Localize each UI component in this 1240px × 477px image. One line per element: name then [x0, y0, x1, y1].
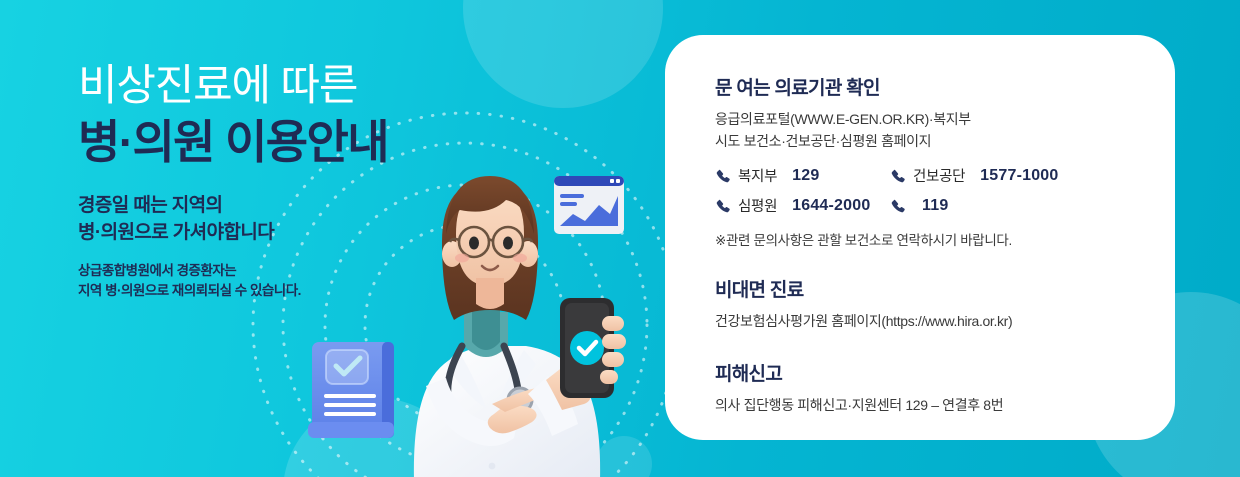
phone-entry-gunbogongdan[interactable]: 건보공단 1577-1000: [890, 165, 1131, 186]
headline-primary: 비상진료에 따른: [78, 62, 498, 110]
section-line: 시도 보건소·건보공단·심평원 홈페이지: [715, 131, 1131, 153]
section-title: 비대면 진료: [715, 275, 1131, 302]
phone-entry-simpyeongwon[interactable]: 심평원 1644-2000: [715, 195, 890, 216]
section-line: 의사 집단행동 피해신고·지원센터 129 – 연결후 8번: [715, 395, 1131, 417]
phone-icon: [715, 168, 731, 184]
phone-label: 복지부: [738, 165, 777, 186]
phone-icon: [715, 198, 731, 214]
subheadline-line-1: 경증일 때는 지역의: [78, 193, 498, 220]
phone-icon: [890, 198, 906, 214]
phone-entry-bokjibu[interactable]: 복지부 129: [715, 165, 890, 186]
supporting-note-line-1: 상급종합병원에서 경증환자는: [78, 261, 498, 281]
left-copy-block: 비상진료에 따른 병·의원 이용안내 경증일 때는 지역의 병·의원으로 가셔야…: [78, 62, 498, 301]
phone-number: 1644-2000: [792, 197, 870, 215]
phone-number: 119: [922, 197, 948, 215]
emergency-care-banner: 비상진료에 따른 병·의원 이용안내 경증일 때는 지역의 병·의원으로 가셔야…: [0, 0, 1240, 477]
section-line: 건강보험심사평가원 홈페이지(https://www.hira.or.kr): [715, 311, 1131, 333]
phone-number-grid: 복지부 129 건보공단 1577-1000: [715, 165, 1131, 216]
info-card: 문 여는 의료기관 확인 응급의료포털(WWW.E-GEN.OR.KR)·복지부…: [665, 35, 1175, 440]
phone-label: 심평원: [738, 195, 777, 216]
section-line: 응급의료포털(WWW.E-GEN.OR.KR)·복지부: [715, 109, 1131, 131]
subheadline: 경증일 때는 지역의 병·의원으로 가셔야합니다: [78, 193, 498, 247]
document-check-icon: [308, 342, 394, 438]
doctor-blush-right: [513, 254, 527, 263]
phone-number: 129: [792, 167, 819, 185]
supporting-note-line-2: 지역 병·의원으로 재의뢰되실 수 있습니다.: [78, 281, 498, 301]
section-open-institutions: 문 여는 의료기관 확인 응급의료포털(WWW.E-GEN.OR.KR)·복지부…: [715, 73, 1131, 249]
section-title: 문 여는 의료기관 확인: [715, 73, 1131, 100]
section-disclaimer: ※관련 문의사항은 관할 보건소로 연락하시기 바랍니다.: [715, 229, 1131, 249]
phone-number: 1577-1000: [980, 167, 1058, 185]
headline-secondary: 병·의원 이용안내: [78, 116, 498, 169]
section-telemedicine: 비대면 진료 건강보험심사평가원 홈페이지(https://www.hira.o…: [715, 275, 1131, 333]
phone-label: 건보공단: [913, 165, 965, 186]
chart-window-icon: [554, 176, 624, 234]
phone-entry-119[interactable]: 119: [890, 197, 1131, 215]
doctor-eye-right: [503, 237, 513, 250]
supporting-note: 상급종합병원에서 경증환자는 지역 병·의원으로 재의뢰되실 수 있습니다.: [78, 261, 498, 302]
section-damage-report: 피해신고 의사 집단행동 피해신고·지원센터 129 – 연결후 8번: [715, 359, 1131, 417]
phone-icon: [890, 168, 906, 184]
section-title: 피해신고: [715, 359, 1131, 386]
subheadline-line-2: 병·의원으로 가셔야합니다: [78, 220, 498, 247]
